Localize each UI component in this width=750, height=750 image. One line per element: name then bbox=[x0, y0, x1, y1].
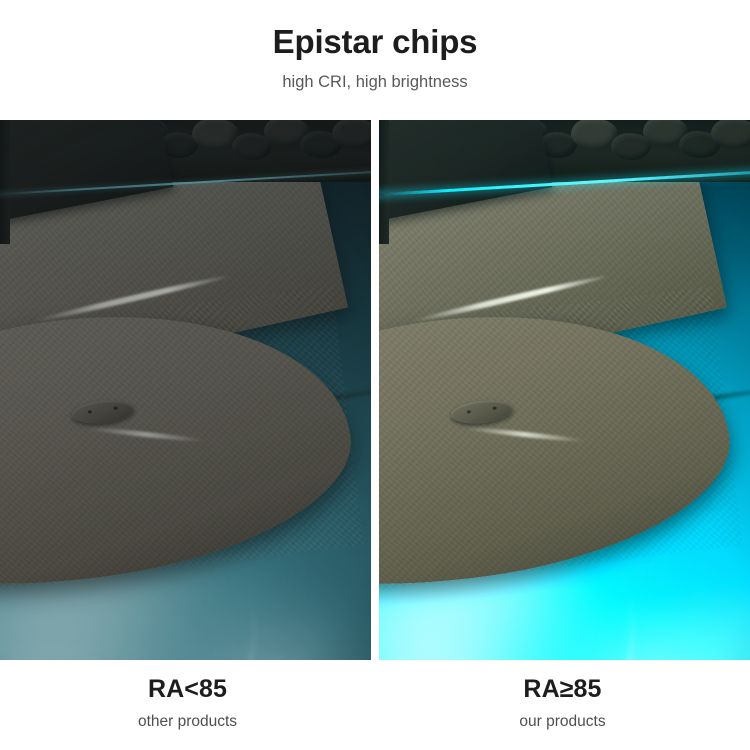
wall-post bbox=[0, 120, 10, 244]
drain-hole bbox=[493, 406, 497, 409]
caption-right-title: RA≥85 bbox=[523, 676, 601, 704]
drain-hole bbox=[88, 410, 92, 413]
caption-right-subtitle: our products bbox=[519, 713, 605, 730]
drain-hole bbox=[114, 406, 118, 409]
caption-right: RA≥85 our products bbox=[375, 660, 750, 750]
page-header: Epistar chips high CRI, high brightness bbox=[0, 0, 750, 120]
pool-scene-bright bbox=[379, 120, 750, 660]
caption-left-title: RA<85 bbox=[148, 676, 227, 704]
pool-scene-dim bbox=[0, 120, 371, 660]
page-title: Epistar chips bbox=[273, 24, 478, 60]
drain-hole bbox=[467, 410, 471, 413]
panel-divider bbox=[371, 120, 379, 660]
product-comparison-page: Epistar chips high CRI, high brightness bbox=[0, 0, 750, 750]
wall-post bbox=[379, 120, 389, 244]
caption-left: RA<85 other products bbox=[0, 660, 375, 750]
comparison-strip bbox=[0, 120, 750, 660]
comparison-image-left bbox=[0, 120, 371, 660]
page-subtitle: high CRI, high brightness bbox=[282, 73, 467, 91]
caption-row: RA<85 other products RA≥85 our products bbox=[0, 660, 750, 750]
caption-left-subtitle: other products bbox=[138, 713, 237, 730]
comparison-image-right bbox=[379, 120, 750, 660]
